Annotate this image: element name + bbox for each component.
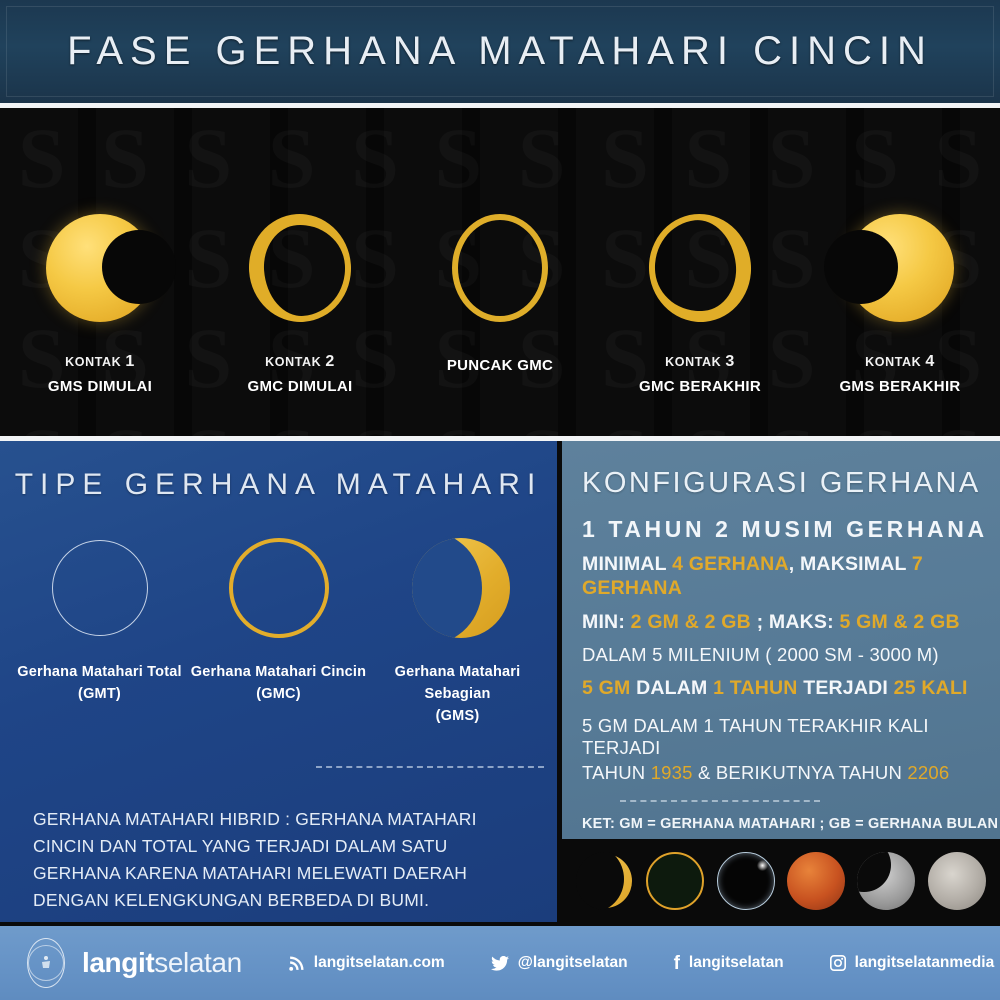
highlight-fragment: 5 GM	[582, 677, 630, 699]
twitter-label: @langitselatan	[518, 954, 628, 972]
eclipse-configuration-panel: KONFIGURASI GERHANA 1 TAHUN 2 MUSIM GERH…	[562, 441, 1000, 922]
text-fragment: , MAKSIMAL	[789, 553, 912, 575]
highlight-fragment: 2206	[907, 762, 949, 783]
sun-bite-left-icon	[840, 208, 960, 328]
instagram-icon	[830, 955, 846, 971]
eclipse-phase-strip: SSSSSSSSSSSSSSSSSSSSSSSSSSSSSSSSSSSSSSSS…	[0, 108, 1000, 438]
phase-desc: PUNCAK GMC	[447, 355, 553, 377]
instagram-link[interactable]: langitselatanmedia	[830, 954, 995, 972]
right-panel-dashed-divider	[620, 800, 820, 802]
langitselatan-logo-icon	[27, 938, 65, 988]
left-panel-dashed-divider	[316, 766, 544, 768]
eclipse-type-name: Gerhana Matahari Cincin	[191, 662, 366, 684]
phase-kontak-label: KONTAK	[265, 355, 321, 369]
page-title: FASE GERHANA MATAHARI CINCIN	[67, 29, 933, 74]
text-fragment: MIN:	[582, 611, 631, 633]
config-line-last-occurrence: 5 GM DALAM 1 TAHUN TERAKHIR KALI TERJADI	[582, 715, 1000, 760]
ring-uneven-right-icon	[640, 208, 760, 328]
facebook-icon: f	[674, 954, 680, 973]
config-line-gm-gb: MIN: 2 GM & 2 GB ; MAKS: 5 GM & 2 GB	[582, 611, 1000, 635]
sun-bite-right-icon	[40, 208, 160, 328]
annular-ring-photo	[646, 852, 704, 910]
highlight-fragment: 5 GM & 2 GB	[839, 611, 959, 633]
config-line-years: TAHUN 1935 & BERIKUTNYA TAHUN 2206	[582, 762, 1000, 785]
full-moon-photo	[928, 852, 986, 910]
infographic-page: FASE GERHANA MATAHARI CINCIN SSSSSSSSSSS…	[0, 0, 1000, 1000]
phase-desc: GMS BERAKHIR	[839, 376, 960, 398]
ring-thin-icon	[440, 208, 560, 328]
eclipse-type-name: Gerhana Matahari Sebagian	[368, 662, 547, 706]
twitter-icon	[491, 956, 509, 971]
header-banner: FASE GERHANA MATAHARI CINCIN	[0, 0, 1000, 103]
ring-uneven-left-icon	[240, 208, 360, 328]
instagram-label: langitselatanmedia	[855, 954, 995, 972]
config-line-frequency: 5 GM DALAM 1 TAHUN TERJADI 25 KALI	[582, 677, 1000, 701]
blood-moon-photo	[787, 852, 845, 910]
phase-kontak-label: KONTAK	[665, 355, 721, 369]
configuration-title: KONFIGURASI GERHANA	[582, 467, 1000, 500]
config-line-minmax: MINIMAL 4 GERHANA, MAKSIMAL 7 GERHANA	[582, 553, 1000, 601]
facebook-link[interactable]: f langitselatan	[674, 954, 784, 973]
highlight-fragment: 1935	[651, 762, 693, 783]
eclipse-types-list: Gerhana Matahari Total (GMT) Gerhana Mat…	[0, 536, 557, 727]
eclipse-type-abbr: (GMC)	[191, 684, 366, 706]
eclipse-type-annular: Gerhana Matahari Cincin (GMC)	[189, 536, 368, 727]
text-fragment: DALAM	[630, 677, 713, 699]
crescent-eclipse-photo	[576, 852, 634, 910]
gold-crescent-icon	[404, 536, 512, 644]
phase-desc: GMS DIMULAI	[48, 376, 152, 398]
brand-light: selatan	[154, 947, 242, 978]
text-fragment: ; MAKS:	[751, 611, 839, 633]
phase-item-2: KONTAK 2 GMC DIMULAI	[200, 108, 400, 398]
phase-desc: GMC DIMULAI	[248, 376, 353, 398]
eclipse-type-abbr: (GMT)	[17, 684, 181, 706]
highlight-fragment: 25 KALI	[894, 677, 968, 699]
phase-kontak-label: KONTAK	[865, 355, 921, 369]
total-eclipse-diamond-photo	[717, 852, 775, 910]
phase-kontak-number: 3	[725, 353, 735, 370]
eclipse-type-partial: Gerhana Matahari Sebagian (GMS)	[368, 536, 547, 727]
rss-icon	[288, 955, 305, 972]
text-fragment: TAHUN	[582, 762, 651, 783]
highlight-fragment: 2 GM & 2 GB	[631, 611, 751, 633]
phase-item-4: KONTAK 3 GMC BERAKHIR	[600, 108, 800, 398]
phase-kontak-number: 2	[325, 353, 335, 370]
partial-lunar-eclipse-photo	[857, 852, 915, 910]
website-link[interactable]: langitselatan.com	[288, 954, 445, 972]
legend-note: KET: GM = GERHANA MATAHARI ; GB = GERHAN…	[582, 816, 1000, 832]
brand-wordmark: langitselatan	[82, 947, 242, 979]
facebook-label: langitselatan	[689, 954, 784, 972]
social-links: langitselatan.com @langitselatan f langi…	[242, 954, 1000, 973]
highlight-fragment: 4 GERHANA	[672, 553, 789, 575]
gold-ring-icon	[225, 536, 333, 644]
text-fragment: & BERIKUTNYA TAHUN	[693, 762, 908, 783]
eclipse-type-abbr: (GMS)	[368, 706, 547, 728]
phase-kontak-label: KONTAK	[65, 355, 121, 369]
text-fragment: MINIMAL	[582, 553, 672, 575]
phase-item-1: KONTAK 1 GMS DIMULAI	[0, 108, 200, 398]
phase-item-3: PUNCAK GMC	[400, 108, 600, 377]
phase-kontak-number: 4	[925, 353, 935, 370]
text-fragment: TERJADI	[798, 677, 894, 699]
phase-item-5: KONTAK 4 GMS BERAKHIR	[800, 108, 1000, 398]
config-line-milenium: DALAM 5 MILENIUM ( 2000 SM - 3000 M)	[582, 644, 1000, 667]
eclipse-photo-strip	[562, 839, 1000, 922]
eclipse-type-name: Gerhana Matahari Total	[17, 662, 181, 684]
footer-bar: langitselatan langitselatan.com @langits…	[0, 926, 1000, 1000]
twitter-link[interactable]: @langitselatan	[491, 954, 628, 972]
configuration-subtitle: 1 TAHUN 2 MUSIM GERHANA	[582, 516, 1000, 543]
phase-desc: GMC BERAKHIR	[639, 376, 761, 398]
phase-kontak-number: 1	[125, 353, 135, 370]
highlight-fragment: 1 TAHUN	[713, 677, 797, 699]
eclipse-types-title: TIPE GERHANA MATAHARI	[0, 468, 557, 502]
hybrid-eclipse-note: GERHANA MATAHARI HIBRID : GERHANA MATAHA…	[33, 806, 538, 915]
eclipse-type-total: Gerhana Matahari Total (GMT)	[10, 536, 189, 727]
circle-outline-icon	[46, 536, 154, 644]
brand-bold: langit	[82, 947, 154, 978]
website-label: langitselatan.com	[314, 954, 445, 972]
